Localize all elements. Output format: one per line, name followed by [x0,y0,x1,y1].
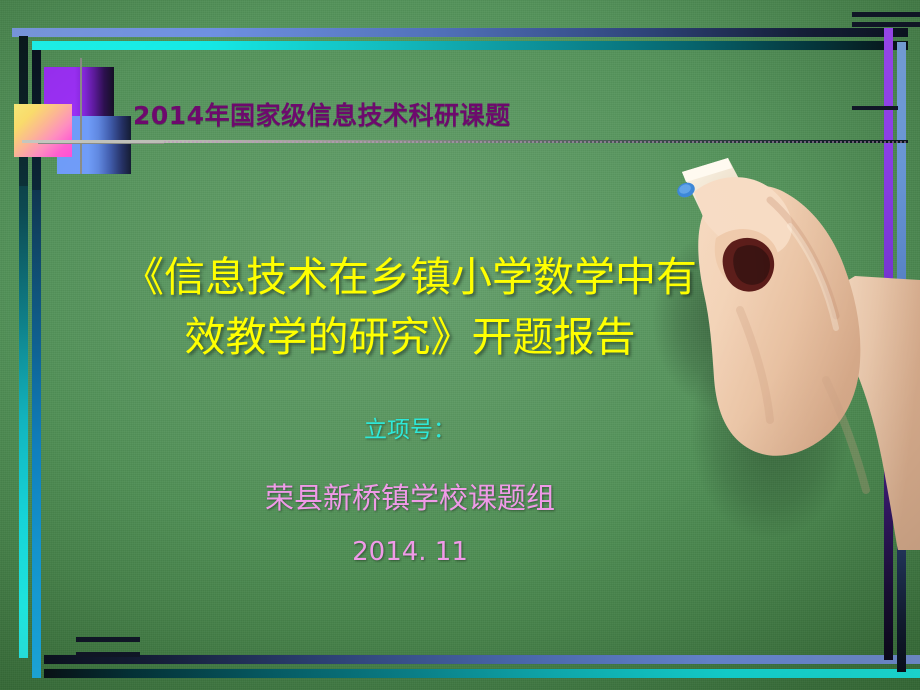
main-title-line-2: 效教学的研究》开题报告 [110,308,710,368]
corner-tick-bottom-left-1 [76,637,140,642]
bottom-border-cyan-bar [44,669,920,678]
right-border-blue-bar [897,42,906,672]
presentation-slide: 2014年国家级信息技术科研课题 《信息技术在乡镇小学数学中有 效教学的研究》开… [0,0,920,690]
corner-tick-top-right-1 [852,12,920,17]
bottom-border-blue-bar [44,655,920,664]
slide-date: 2014. 11 [110,537,710,567]
decorative-yellow-pink-square [14,104,72,157]
slide-main-title: 《信息技术在乡镇小学数学中有 效教学的研究》开题报告 [110,248,710,368]
corner-tick-bottom-left-2 [76,652,140,657]
right-border-purple-bar [884,28,893,660]
decorative-vertical-line [80,58,82,174]
header-divider-dotted [164,141,908,143]
research-team-name: 荣县新桥镇学校课题组 [110,475,710,517]
project-number-label: 立项号： [110,410,710,444]
slide-header-title: 2014年国家级信息技术科研课题 [133,96,511,132]
corner-tick-top-right-3 [852,106,898,110]
corner-tick-top-right-2 [852,22,920,27]
main-title-line-1: 《信息技术在乡镇小学数学中有 [110,248,710,308]
